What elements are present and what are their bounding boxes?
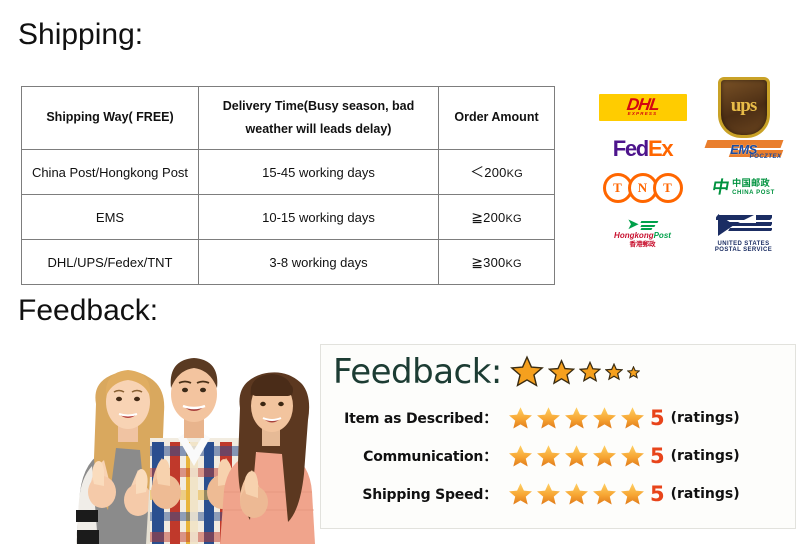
star-icon (591, 443, 618, 470)
tnt-letter-3: T (653, 173, 683, 203)
feedback-ratings-box: Feedback: Item as Described： 5 (320, 344, 796, 529)
ems-subtext: POCZTEX (750, 154, 782, 160)
carrier-logo-grid: DHL EXPRESS ups FedEx EMS POCZTEX (595, 84, 791, 270)
china-post-mark: 中 (711, 181, 731, 196)
ups-wordmark: ups (731, 96, 757, 115)
star-icon (548, 359, 575, 386)
header-delivery-time-line2: weather will leads delay) (202, 118, 435, 141)
feedback-rating-rows: Item as Described： 5 (ratings) Communica… (321, 399, 795, 513)
hongkong-post-bird-icon: ➤ (627, 218, 640, 231)
amount-unit: KG (507, 168, 523, 180)
star-icon (535, 405, 562, 432)
table-row: DHL/UPS/Fedex/TNT 3-8 working days ≧300K… (22, 240, 555, 285)
amount-operator: ≧ (471, 254, 483, 270)
star-icon (507, 405, 534, 432)
star-icon (619, 481, 646, 508)
hongkong-post-name-cn: 香港郵政 (629, 241, 655, 248)
rating-score: 5 (650, 446, 665, 467)
star-icon (627, 366, 640, 379)
rating-label: Shipping Speed： (321, 484, 499, 504)
amount-operator: ≧ (471, 209, 483, 225)
rating-unit: (ratings) (671, 448, 740, 464)
star-icon (619, 443, 646, 470)
cell-order-amount: ≧200KG (439, 195, 555, 240)
star-icon (510, 355, 544, 389)
rating-label: Item as Described： (321, 408, 499, 428)
cell-delivery-time: 15-45 working days (199, 150, 439, 195)
rating-label-colon: ： (483, 487, 497, 503)
table-row: China Post/Hongkong Post 15-45 working d… (22, 150, 555, 195)
dhl-logo-icon: DHL EXPRESS (595, 84, 690, 130)
header-order-amount: Order Amount (439, 87, 555, 150)
ups-logo-icon: ups (696, 84, 791, 130)
rating-label-colon: ： (483, 449, 497, 465)
amount-number: 200 (484, 165, 506, 180)
rating-label-text: Communication (363, 449, 483, 465)
tnt-logo-icon: T N T (595, 168, 690, 208)
amount-number: 200 (483, 210, 505, 225)
star-icon (591, 405, 618, 432)
star-icon (563, 443, 590, 470)
star-icon (579, 361, 601, 383)
shipping-table: Shipping Way( FREE) Delivery Time(Busy s… (21, 86, 555, 285)
star-icon (535, 481, 562, 508)
star-icon (507, 481, 534, 508)
dhl-wordmark: DHL (626, 98, 660, 111)
china-post-name-en: CHINA POST (732, 190, 775, 196)
cell-delivery-time: 3-8 working days (199, 240, 439, 285)
header-delivery-time-line1: Delivery Time(Busy season, bad (202, 95, 435, 118)
china-post-name-cn: 中国邮政 (732, 180, 775, 189)
rating-score: 5 (650, 408, 665, 429)
hongkong-post-name-part1: Hongkong (614, 231, 654, 240)
rating-label: Communication： (321, 446, 499, 466)
rating-stars (507, 481, 646, 508)
shipping-heading: Shipping: (18, 18, 143, 52)
fedex-wordmark-fed: Fed (613, 136, 648, 161)
usps-name-line2: POSTAL SERVICE (715, 247, 772, 253)
cell-shipping-way: EMS (22, 195, 199, 240)
star-icon (535, 443, 562, 470)
cell-shipping-way: DHL/UPS/Fedex/TNT (22, 240, 199, 285)
cell-shipping-way: China Post/Hongkong Post (22, 150, 199, 195)
amount-unit: KG (505, 213, 521, 225)
rating-row-item-as-described: Item as Described： 5 (ratings) (321, 399, 795, 437)
rating-row-communication: Communication： 5 (ratings) (321, 437, 795, 475)
star-icon (591, 481, 618, 508)
table-row: EMS 10-15 working days ≧200KG (22, 195, 555, 240)
amount-operator: ＜ (470, 164, 484, 180)
cell-delivery-time: 10-15 working days (199, 195, 439, 240)
hongkong-post-name-part2: Post (654, 231, 671, 240)
hongkong-post-lines (641, 221, 658, 229)
star-icon (507, 443, 534, 470)
cell-order-amount: ≧300KG (439, 240, 555, 285)
china-post-logo-icon: 中 中国邮政 CHINA POST (696, 168, 791, 208)
star-icon (563, 405, 590, 432)
promo-page: Shipping: Shipping Way( FREE) Delivery T… (0, 0, 800, 546)
thumbs-up-photo (34, 342, 317, 544)
header-shipping-way: Shipping Way( FREE) (22, 87, 199, 150)
fedex-wordmark-ex: Ex (648, 136, 672, 161)
hongkong-post-logo-icon: ➤ HongkongPost 香港郵政 (595, 208, 690, 258)
star-icon (619, 405, 646, 432)
feedback-title-stars (510, 355, 640, 389)
star-icon (563, 481, 590, 508)
feedback-heading: Feedback: (18, 294, 158, 328)
cell-order-amount: ＜200KG (439, 150, 555, 195)
fedex-logo-icon: FedEx (595, 130, 690, 168)
rating-stars (507, 443, 646, 470)
rating-label-colon: ： (483, 411, 497, 427)
star-icon (605, 363, 623, 381)
feedback-box-title: Feedback: (333, 353, 502, 391)
rating-stars (507, 405, 646, 432)
rating-label-text: Shipping Speed (362, 487, 483, 503)
header-delivery-time: Delivery Time(Busy season, bad weather w… (199, 87, 439, 150)
rating-score: 5 (650, 484, 665, 505)
usps-logo-icon: UNITED STATES POSTAL SERVICE (696, 208, 791, 258)
amount-number: 300 (483, 255, 505, 270)
usps-eagle-icon (716, 213, 772, 239)
rating-label-text: Item as Described (344, 411, 483, 427)
rating-unit: (ratings) (671, 410, 740, 426)
rating-unit: (ratings) (671, 486, 740, 502)
feedback-box-title-row: Feedback: (333, 353, 640, 391)
amount-unit: KG (505, 258, 521, 270)
rating-row-shipping-speed: Shipping Speed： 5 (ratings) (321, 475, 795, 513)
table-header-row: Shipping Way( FREE) Delivery Time(Busy s… (22, 87, 555, 150)
ems-logo-icon: EMS POCZTEX (696, 130, 791, 168)
